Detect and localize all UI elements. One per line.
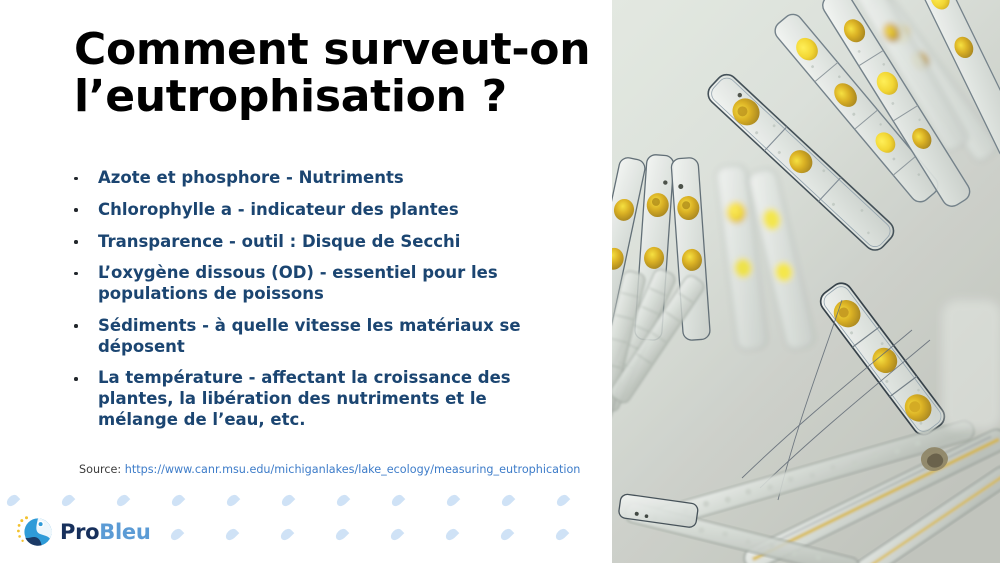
water-droplet-icon (170, 493, 186, 509)
water-droplet-icon (224, 527, 240, 543)
list-item-label: Transparence - outil : Disque de Secchi (98, 232, 460, 251)
water-droplet-icon (389, 527, 405, 543)
bullet-list: Azote et phosphore - Nutriments Chloroph… (68, 168, 548, 442)
water-droplet-icon (280, 493, 296, 509)
logo-text-bleu: Bleu (99, 520, 150, 544)
list-item-label: Sédiments - à quelle vitesse les matéria… (98, 316, 521, 356)
water-droplet-icon (554, 527, 570, 543)
water-droplet-icon (169, 527, 185, 543)
water-droplet-icon (445, 493, 461, 509)
water-droplet-icon (499, 527, 515, 543)
source-line: Source: https://www.canr.msu.edu/michiga… (79, 463, 580, 476)
logo-text-pro: Pro (60, 520, 99, 544)
list-item-label: Azote et phosphore - Nutriments (98, 168, 404, 187)
page-title: Comment surveut-on l’eutrophisation ? (74, 26, 674, 120)
list-item-label: La température - affectant la croissance… (98, 368, 511, 429)
list-item: L’oxygène dissous (OD) - essentiel pour … (68, 263, 548, 305)
water-droplet-icon (225, 493, 241, 509)
water-droplet-icon (390, 493, 406, 509)
water-droplet-icon (500, 493, 516, 509)
bullet-dot-icon (74, 208, 78, 212)
bullet-dot-icon (74, 240, 78, 244)
list-item: Transparence - outil : Disque de Secchi (68, 232, 548, 253)
probleu-logo-text: ProBleu (60, 520, 150, 544)
list-item: Sédiments - à quelle vitesse les matéria… (68, 316, 548, 358)
bullet-dot-icon (74, 272, 78, 276)
probleu-logo: ProBleu (16, 512, 150, 552)
list-item: Azote et phosphore - Nutriments (68, 168, 548, 189)
water-droplet-icon (334, 527, 350, 543)
slide: ProBleu Source: https://www.canr.msu.edu… (0, 0, 1000, 563)
bullet-dot-icon (74, 177, 78, 181)
water-droplet-icon (555, 493, 571, 509)
bullet-dot-icon (74, 324, 78, 328)
source-label: Source: (79, 463, 121, 476)
list-item: La température - affectant la croissance… (68, 368, 548, 430)
probleu-logo-mark-icon (16, 512, 56, 552)
water-droplet-icon (5, 493, 21, 509)
list-item-label: L’oxygène dissous (OD) - essentiel pour … (98, 263, 498, 303)
water-droplet-icon (115, 493, 131, 509)
source-url-link[interactable]: https://www.canr.msu.edu/michiganlakes/l… (125, 463, 581, 476)
water-droplet-icon (279, 527, 295, 543)
water-droplet-icon (60, 493, 76, 509)
bullet-dot-icon (74, 377, 78, 381)
list-item: Chlorophylle a - indicateur des plantes (68, 200, 548, 221)
water-droplet-icon (444, 527, 460, 543)
water-droplet-icon (335, 493, 351, 509)
list-item-label: Chlorophylle a - indicateur des plantes (98, 200, 459, 219)
